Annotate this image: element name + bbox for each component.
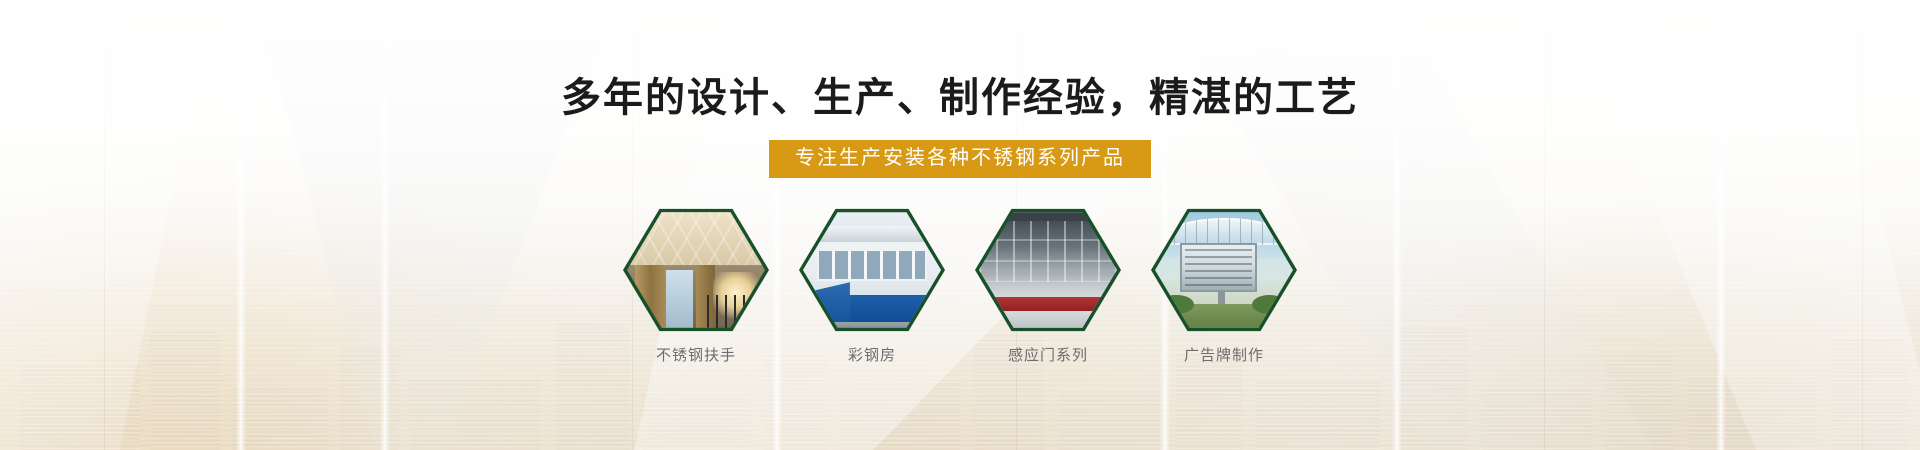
banner-content: 多年的设计、生产、制作经验，精湛的工艺 专注生产安装各种不锈钢系列产品 不锈钢扶… [0,0,1920,450]
product-item[interactable]: 感应门系列 [975,205,1121,365]
product-hexagon-row: 不锈钢扶手 彩钢房 [0,205,1920,365]
product-label: 感应门系列 [1008,347,1088,365]
banner-subtitle-wrap: 专注生产安装各种不锈钢系列产品 [0,140,1920,178]
product-item[interactable]: 彩钢房 [799,205,945,365]
product-label: 彩钢房 [848,347,896,365]
product-item[interactable]: 不锈钢扶手 [623,205,769,365]
product-hexagon-frame[interactable] [1151,205,1297,335]
banner-headline: 多年的设计、生产、制作经验，精湛的工艺 [0,72,1920,124]
stainless-steel-handrail-photo [627,209,765,332]
sensor-door-series-photo [979,209,1117,332]
product-hexagon-frame[interactable] [975,205,1121,335]
color-steel-house-photo [803,209,941,332]
product-hexagon-frame[interactable] [623,205,769,335]
product-item[interactable]: 广告牌制作 [1151,205,1297,365]
billboard-production-photo [1155,209,1293,332]
product-label: 广告牌制作 [1184,347,1264,365]
banner-subtitle-badge: 专注生产安装各种不锈钢系列产品 [769,140,1151,178]
product-hexagon-frame[interactable] [799,205,945,335]
product-label: 不锈钢扶手 [656,347,736,365]
promo-banner: 多年的设计、生产、制作经验，精湛的工艺 专注生产安装各种不锈钢系列产品 不锈钢扶… [0,0,1920,450]
